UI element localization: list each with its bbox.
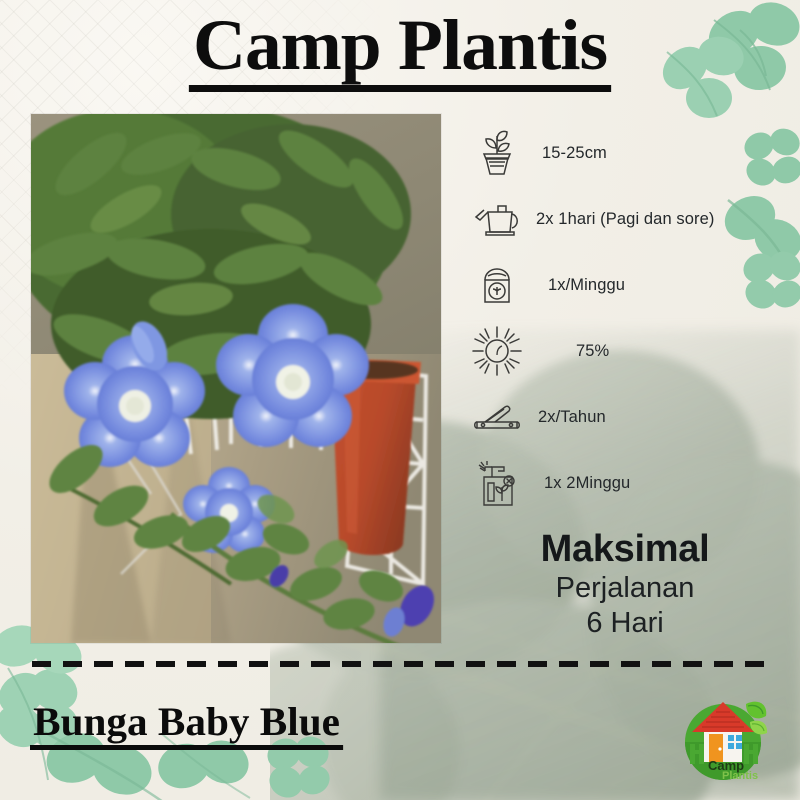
care-row-sunlight: 75% (466, 318, 786, 384)
care-row-fertilizer: 1x/Minggu (466, 252, 786, 318)
care-row-watering: 2x 1hari (Pagi dan sore) (466, 186, 786, 252)
care-label-pesticide: 1x 2Minggu (544, 474, 630, 493)
shipping-line-3: 6 Hari (460, 606, 790, 641)
care-instructions-list: 15-25cm 2x 1hari (Pagi dan sore) (466, 120, 786, 516)
brand-logo: Camp Plantis (668, 690, 778, 782)
page-title: Camp Plantis (189, 8, 611, 92)
care-row-pruning: 2x/Tahun (466, 384, 786, 450)
pruning-knife-icon (466, 400, 528, 434)
fertilizer-bag-icon (466, 262, 528, 308)
sun-icon (466, 325, 528, 377)
dashed-divider (32, 661, 772, 667)
care-label-pruning: 2x/Tahun (538, 408, 606, 427)
watering-can-icon (466, 198, 528, 240)
care-row-height: 15-25cm (466, 120, 786, 186)
product-name-caption: Bunga Baby Blue (30, 700, 343, 750)
spray-bottle-icon (466, 457, 528, 509)
care-row-pesticide: 1x 2Minggu (466, 450, 786, 516)
potted-plant-icon (466, 128, 528, 178)
care-label-watering: 2x 1hari (Pagi dan sore) (536, 210, 715, 229)
shipping-line-2: Perjalanan (460, 571, 790, 606)
care-label-sunlight: 75% (576, 342, 609, 361)
logo-name-bottom: Plantis (722, 770, 758, 782)
care-label-height: 15-25cm (542, 144, 607, 163)
product-photo (31, 114, 441, 643)
poster-title-container: Camp Plantis (0, 8, 800, 92)
poster-canvas: Camp Plantis (0, 0, 800, 800)
care-label-fertilizer: 1x/Minggu (548, 276, 625, 295)
shipping-heading: Maksimal (460, 528, 790, 571)
shipping-info-block: Maksimal Perjalanan 6 Hari (460, 528, 790, 641)
footer-caption-container: Bunga Baby Blue (30, 700, 334, 750)
